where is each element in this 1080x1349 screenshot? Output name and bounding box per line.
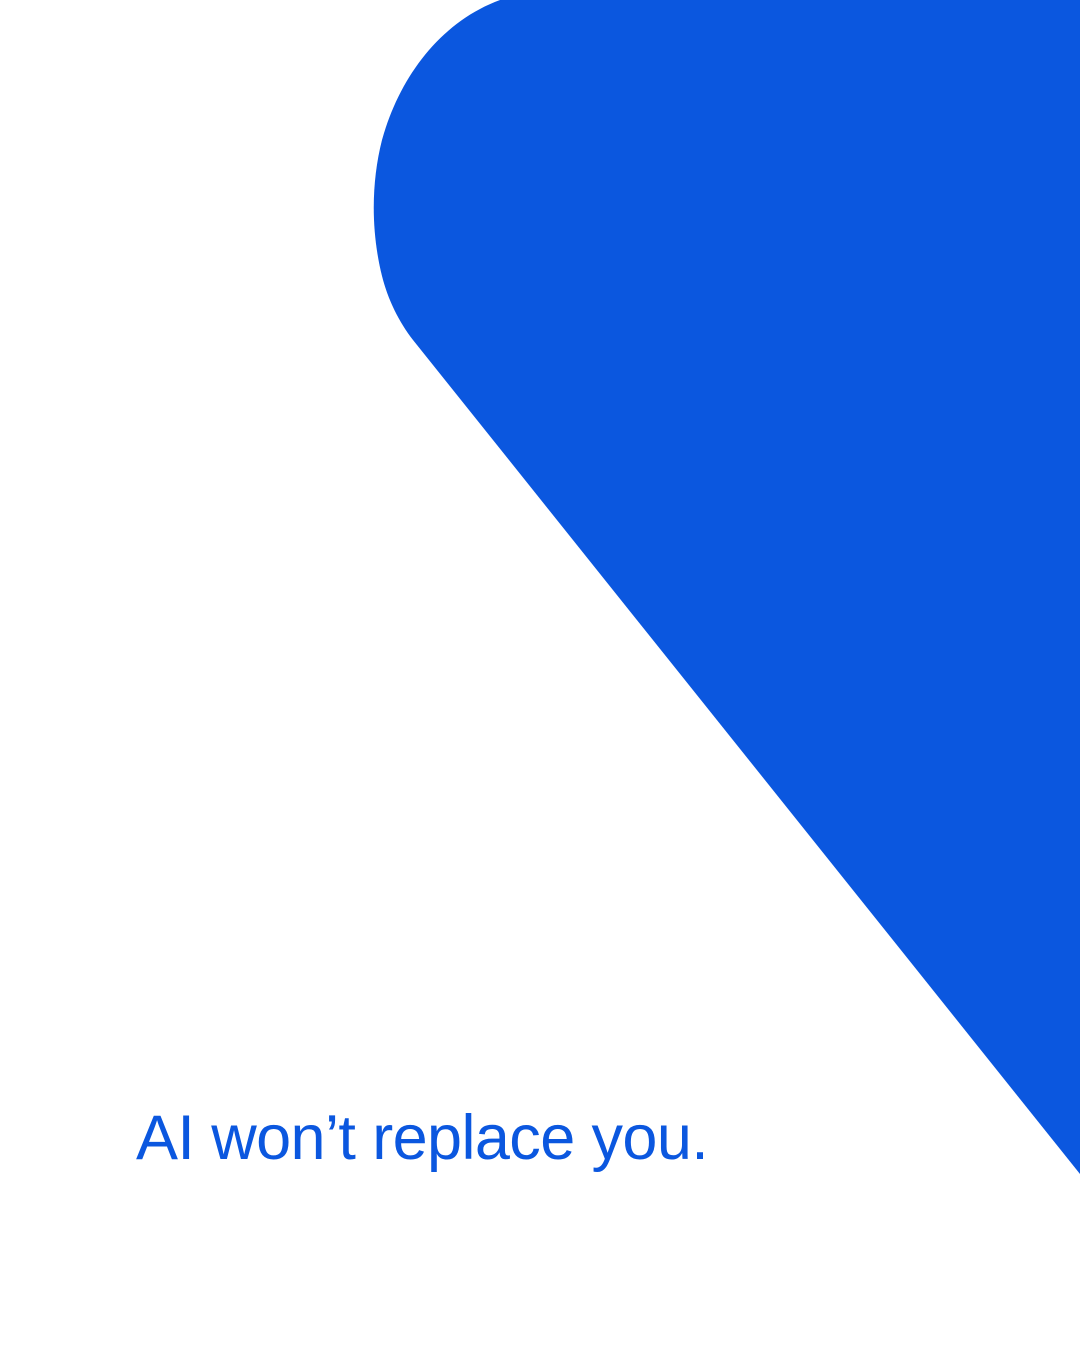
headline-line-1: AI won’t replace you.: [136, 1098, 976, 1178]
page-title: AI won’t replace you. Someone using AI w…: [136, 938, 976, 1349]
headline-line-2: Someone using AI will.: [136, 1338, 976, 1349]
poster-canvas: AI won’t replace you. Someone using AI w…: [0, 0, 1080, 1349]
